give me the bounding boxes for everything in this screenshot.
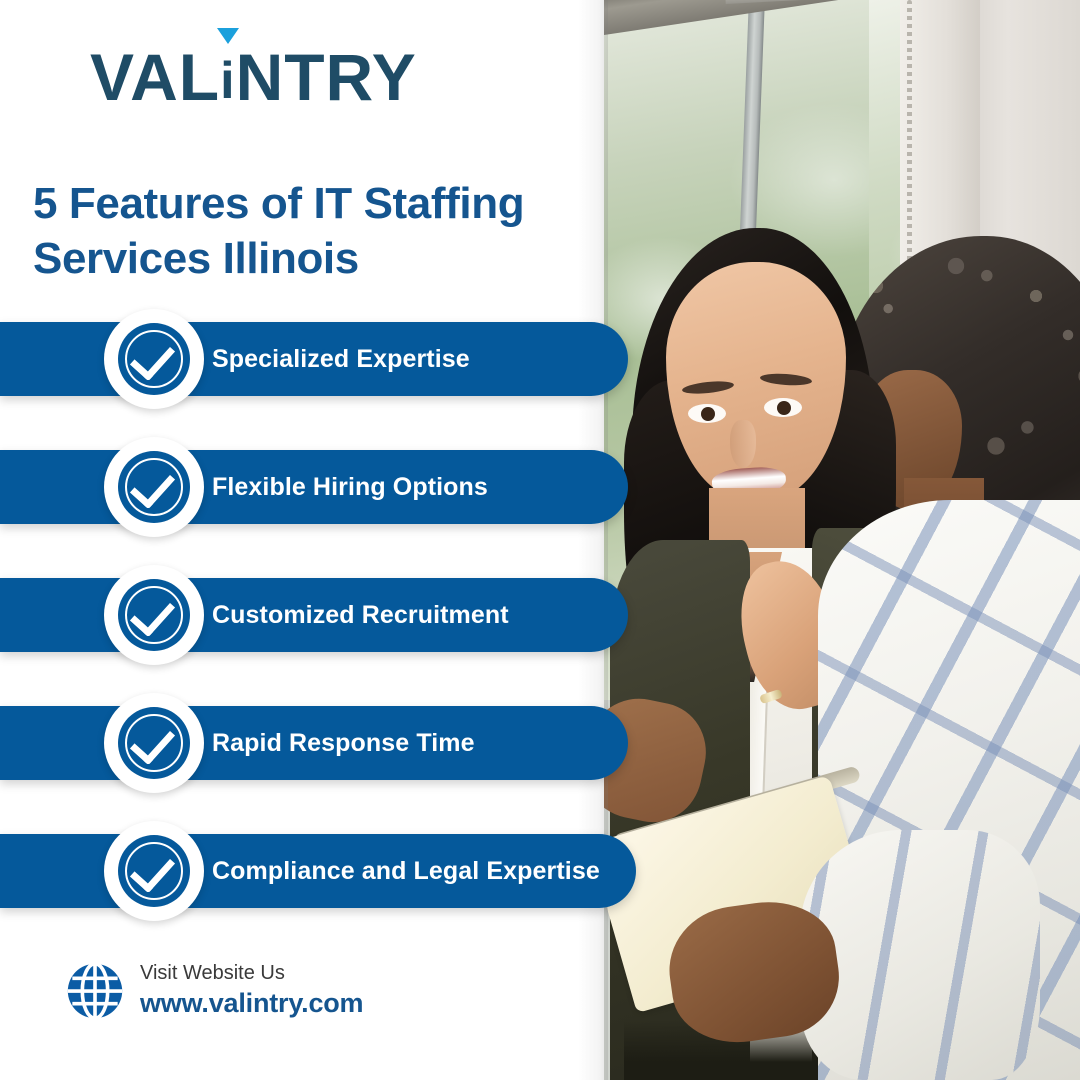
check-icon-ring — [125, 714, 183, 772]
feature-label: Rapid Response Time — [212, 729, 475, 758]
person-1-eye-left — [688, 404, 726, 423]
page-title: 5 Features of IT Staffing Services Illin… — [33, 176, 573, 287]
person-1-eye-right — [764, 398, 802, 417]
check-icon-ring — [125, 330, 183, 388]
pupil — [777, 401, 791, 415]
check-circle-icon — [104, 437, 204, 537]
check-circle-icon — [104, 565, 204, 665]
check-circle-icon — [104, 309, 204, 409]
footer-cta-label: Visit Website Us — [140, 962, 363, 985]
checkmark-glyph — [130, 591, 175, 637]
logo-i-glyph: i — [220, 52, 235, 110]
checkmark-glyph — [130, 847, 175, 893]
check-icon-ring — [125, 842, 183, 900]
feature-label: Flexible Hiring Options — [212, 473, 488, 502]
person-1-face — [666, 262, 846, 500]
check-icon-inner — [118, 323, 190, 395]
footer[interactable]: Visit Website Us www.valintry.com — [66, 962, 363, 1020]
feature-label: Compliance and Legal Expertise — [212, 857, 600, 886]
hero-photo — [604, 0, 1080, 1080]
triangle-dot-icon — [217, 28, 239, 44]
logo-text-part2: NTRY — [236, 40, 417, 114]
person-1-nose — [730, 420, 756, 468]
checkmark-glyph — [130, 463, 175, 509]
check-icon-ring — [125, 586, 183, 644]
logo-wordmark: VALiNTRY — [90, 44, 417, 110]
check-icon-inner — [118, 451, 190, 523]
feature-pill-4[interactable]: Rapid Response Time — [0, 706, 628, 780]
feature-pill-5[interactable]: Compliance and Legal Expertise — [0, 834, 636, 908]
feature-pill-3[interactable]: Customized Recruitment — [0, 578, 628, 652]
feature-label: Customized Recruitment — [212, 601, 509, 630]
website-url[interactable]: www.valintry.com — [140, 988, 363, 1019]
feature-label: Specialized Expertise — [212, 345, 470, 374]
footer-text-block: Visit Website Us www.valintry.com — [140, 962, 363, 1019]
globe-icon — [66, 962, 124, 1020]
brand-logo[interactable]: VALiNTRY — [90, 38, 417, 110]
pupil — [701, 407, 715, 421]
check-circle-icon — [104, 693, 204, 793]
feature-pill-1[interactable]: Specialized Expertise — [0, 322, 628, 396]
poster: VALiNTRY 5 Features of IT Staffing Servi… — [0, 0, 1080, 1080]
check-icon-inner — [118, 579, 190, 651]
check-circle-icon — [104, 821, 204, 921]
check-icon-inner — [118, 835, 190, 907]
feature-pill-2[interactable]: Flexible Hiring Options — [0, 450, 628, 524]
checkmark-glyph — [130, 335, 175, 381]
check-icon-ring — [125, 458, 183, 516]
checkmark-glyph — [130, 719, 175, 765]
logo-letter-i: i — [220, 44, 235, 110]
logo-text-part1: VAL — [90, 40, 220, 114]
check-icon-inner — [118, 707, 190, 779]
